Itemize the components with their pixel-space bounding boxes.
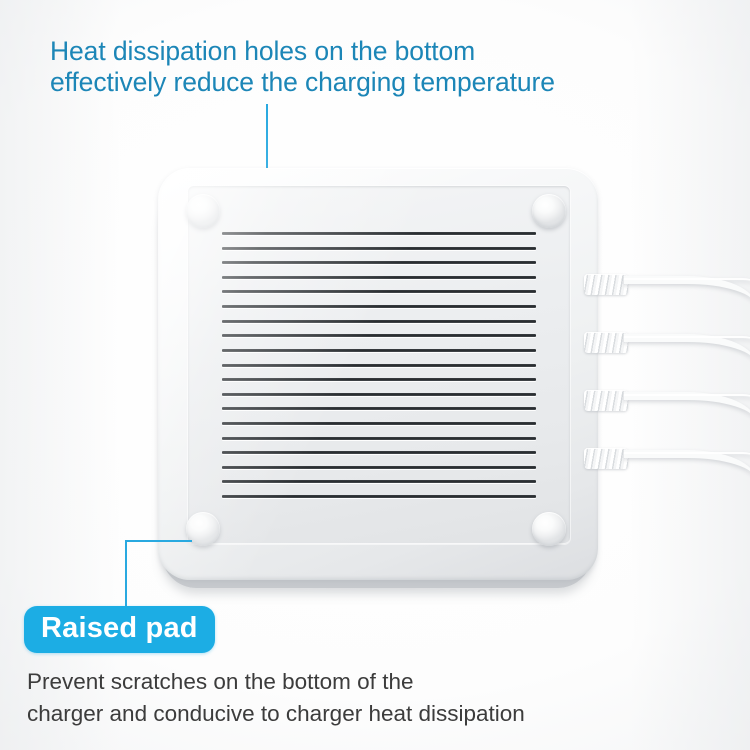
cable-strain-relief [584,448,628,469]
charging-cable [584,378,750,422]
vent-slit [222,466,536,469]
raised-pad-bottom-right [532,512,566,546]
vent-slit [222,393,536,396]
vent-slit [222,232,536,235]
cable-strain-relief [584,332,628,353]
charging-cable [584,320,750,364]
vent-slit [222,422,536,425]
vent-slit [222,261,536,264]
vent-slit [222,364,536,367]
vent-slit [222,276,536,279]
raised-pad-top-right [532,194,566,228]
vent-slit [222,334,536,337]
cable-strain-relief [584,390,628,411]
raised-pad-badge: Raised pad [24,606,215,653]
vent-slit [222,305,536,308]
cable-wire [624,450,750,480]
vent-slit [222,247,536,250]
charging-cable [584,436,750,480]
raised-pad-bottom-left [186,512,220,546]
heat-dissipation-vents [222,232,536,498]
vent-slit [222,451,536,454]
cable-wire [624,276,750,306]
vent-slit [222,378,536,381]
product-feature-illustration: Heat dissipation holes on the bottom eff… [0,0,750,750]
headline-text: Heat dissipation holes on the bottom eff… [50,36,720,98]
vent-slit [222,349,536,352]
cable-strain-relief [584,274,628,295]
charger-device [150,160,608,598]
vent-slit [222,437,536,440]
charging-cables [584,262,750,492]
subcopy-text: Prevent scratches on the bottom of the c… [27,666,727,730]
charging-cable [584,262,750,306]
vent-slit [222,407,536,410]
raised-pad-top-left [186,194,220,228]
cable-wire [624,392,750,422]
vent-slit [222,320,536,323]
vent-slit [222,495,536,498]
cable-wire [624,334,750,364]
vent-slit [222,480,536,483]
vent-slit [222,290,536,293]
